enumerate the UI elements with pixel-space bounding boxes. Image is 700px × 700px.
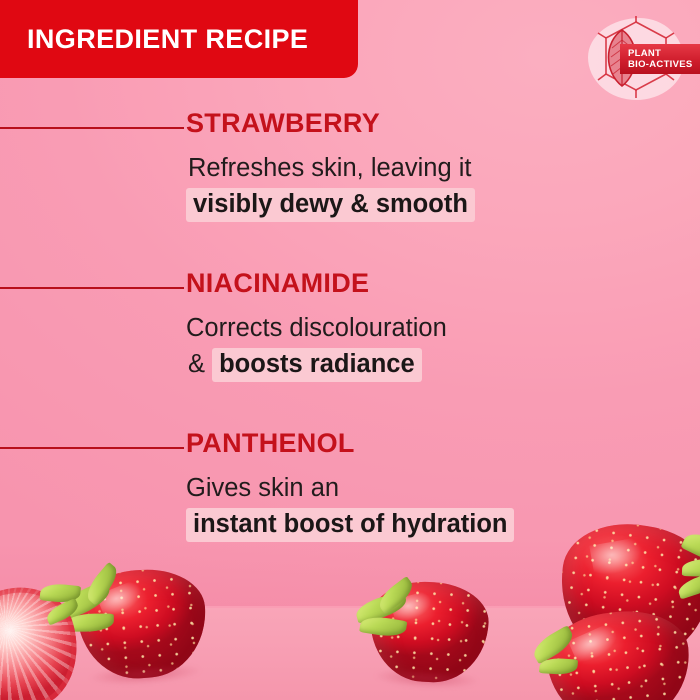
description-line-1: Gives skin an [186,470,514,506]
highlight-phrase: visibly dewy & smooth [186,188,475,222]
ingredient-block-niacinamide: NIACINAMIDE Corrects discolouration & bo… [186,268,447,382]
highlight-phrase: boosts radiance [212,348,422,382]
connector-line-niacinamide [0,287,184,289]
ingredient-block-strawberry: STRAWBERRY Refreshes skin, leaving it vi… [186,108,475,222]
ingredient-name: NIACINAMIDE [186,268,447,298]
ingredient-name: STRAWBERRY [186,108,475,138]
strawberry-right-lower [543,605,696,700]
ingredient-description-text: Corrects discolouration & boosts radianc… [186,310,447,382]
description-prefix: & [186,350,205,378]
strawberry-mid [367,579,490,685]
strawberry-left [74,566,209,683]
ingredient-description-text: Refreshes skin, leaving it visibly dewy … [186,150,475,222]
description-line-2: visibly dewy & smooth [186,186,475,222]
highlight-phrase: instant boost of hydration [186,508,514,542]
strawberry-seeds [543,605,696,700]
logo-text-line2: BIO-ACTIVES [628,59,700,70]
logo-ribbon: PLANT BIO-ACTIVES [620,44,700,74]
description-line-2: instant boost of hydration [186,506,514,542]
page-title: INGREDIENT RECIPE [27,24,308,55]
strawberry-scene [0,540,700,700]
description-line-1: Corrects discolouration [186,310,447,346]
connector-line-strawberry [0,127,184,129]
ingredient-description: Refreshes skin, leaving it visibly dewy … [186,150,475,222]
ingredient-description-text: Gives skin an instant boost of hydration [186,470,514,542]
logo-text-line1: PLANT [628,48,700,59]
connector-line-panthenol [0,447,184,449]
brand-logo: PLANT BIO-ACTIVES [582,16,694,102]
ingredient-block-panthenol: PANTHENOL Gives skin an instant boost of… [186,428,514,542]
ingredient-name: PANTHENOL [186,428,514,458]
ingredient-recipe-poster: INGREDIENT RECIPE PLANT BIO-ACTIVES STRA… [0,0,700,700]
header-banner: INGREDIENT RECIPE [0,0,358,78]
ingredient-description: Gives skin an instant boost of hydration [186,470,514,542]
ingredient-description: Corrects discolouration & boosts radianc… [186,310,447,382]
description-line-2: & boosts radiance [186,346,447,382]
description-line-1: Refreshes skin, leaving it [188,150,475,186]
